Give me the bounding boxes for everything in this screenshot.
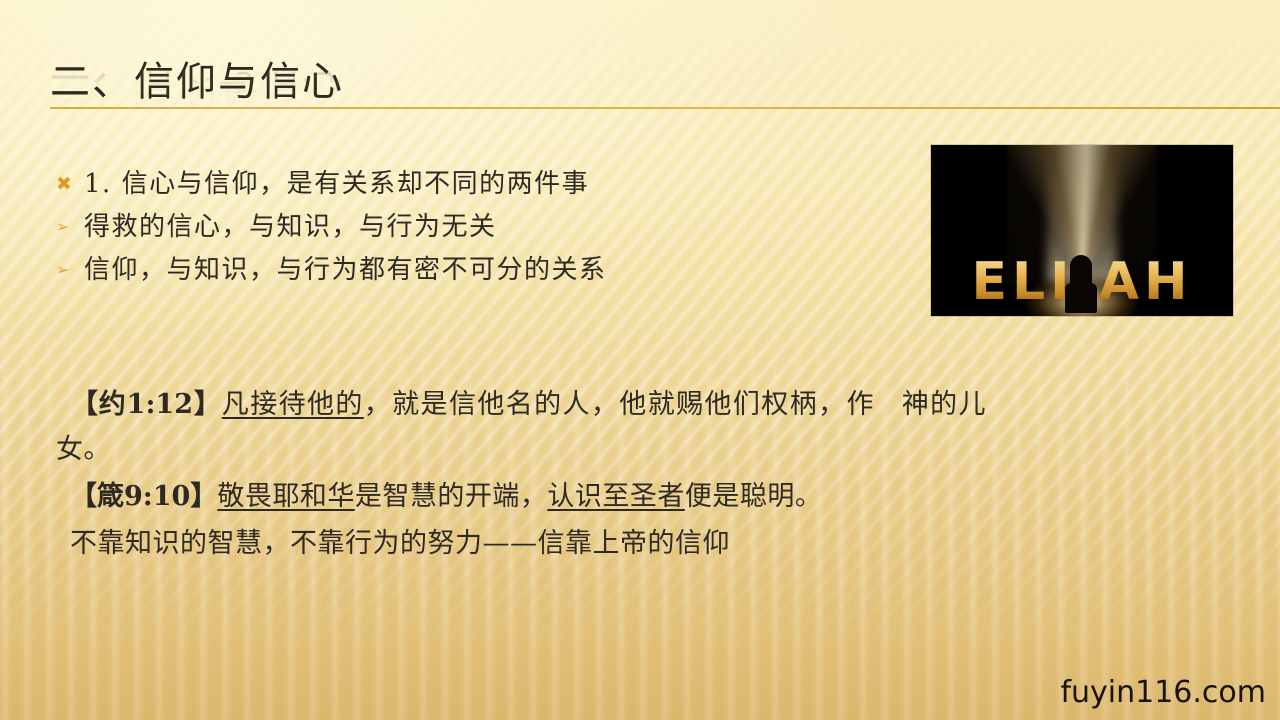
conclusion-text: 不靠知识的智慧，不靠行为的努力——信靠上帝的信仰 <box>70 528 730 559</box>
list-item-label: 得救的信心，与知识，与行为无关 <box>84 209 916 245</box>
arrow-bullet-icon: ➢ <box>56 209 84 245</box>
verse-text-tail: 便是聪明。 <box>685 481 823 512</box>
page-title: 二、信仰与信心 <box>50 62 344 102</box>
arrow-bullet-icon: ➢ <box>56 252 84 288</box>
list-item: ✖ 1. 信心与信仰，是有关系却不同的两件事 <box>56 166 916 202</box>
slide-canvas: 二、信仰与信心 二、信仰与信心 ✖ 1. 信心与信仰，是有关系却不同的两件事 ➢… <box>0 0 1280 720</box>
scripture-verse-proverbs: 【箴9:10】敬畏耶和华是智慧的开端，认识至圣者便是聪明。 <box>56 474 986 519</box>
list-item: ➢ 信仰，与知识，与行为都有密不可分的关系 <box>56 252 916 288</box>
silhouette-figure-icon <box>1070 255 1092 313</box>
list-item-label: 信仰，与知识，与行为都有密不可分的关系 <box>84 252 916 288</box>
verse-text-middle: 是智慧的开端， <box>355 481 548 512</box>
list-item: ➢ 得救的信心，与知识，与行为无关 <box>56 209 916 245</box>
verse-underlined-phrase: 凡接待他的 <box>222 389 364 420</box>
site-watermark: fuyin116.com <box>1060 675 1266 710</box>
bullet-list: ✖ 1. 信心与信仰，是有关系却不同的两件事 ➢ 得救的信心，与知识，与行为无关… <box>56 166 916 295</box>
list-item-label: 1. 信心与信仰，是有关系却不同的两件事 <box>84 166 916 202</box>
scripture-conclusion: 不靠知识的智慧，不靠行为的努力——信靠上帝的信仰 <box>56 521 986 566</box>
verse-text: ，就是信他名的人，他就赐他们权柄，作 <box>364 389 875 420</box>
cross-bullet-icon: ✖ <box>56 166 84 202</box>
verse-underlined-phrase-a: 敬畏耶和华 <box>217 481 355 512</box>
verse-reference-proverbs: 【箴9:10】 <box>70 481 217 512</box>
title-divider-rule <box>50 107 1280 109</box>
verse-underlined-phrase-b: 认识至圣者 <box>547 481 685 512</box>
verse-reference-john: 【约1:12】 <box>70 389 222 420</box>
scripture-body: 【约1:12】凡接待他的，就是信他名的人，他就赐他们权柄，作神的儿女。 【箴9:… <box>56 382 986 568</box>
scripture-verse-john: 【约1:12】凡接待他的，就是信他名的人，他就赐他们权柄，作神的儿女。 <box>56 382 986 472</box>
elijah-poster-image: ELIJAH <box>931 145 1233 316</box>
